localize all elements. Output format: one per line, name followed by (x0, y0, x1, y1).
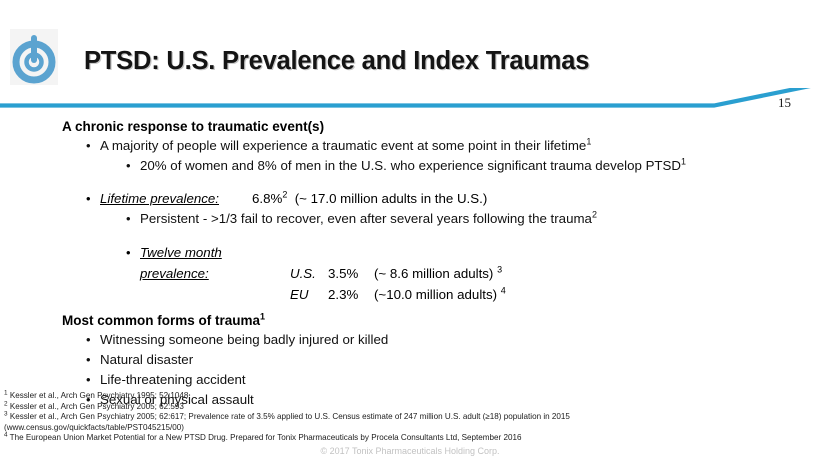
section-heading-trauma-forms: Most common forms of trauma1 (62, 312, 820, 330)
slide-header: PTSD: U.S. Prevalence and Index Traumas … (0, 0, 820, 120)
prevalence-value: 3.5% (328, 263, 374, 284)
footnote-marker: 2 (4, 400, 8, 407)
footnote-text: Kessler et al., Arch Gen Psychiatry 2005… (10, 402, 184, 411)
footnote-ref: 2 (592, 210, 597, 220)
twelve-month-prevalence-row: • Twelve month prevalence:U.S.3.5%(~ 8.6… (140, 242, 820, 284)
bullet-icon: • (86, 370, 91, 390)
footnote-text: The European Union Market Potential for … (10, 433, 522, 442)
slide-body: A chronic response to traumatic event(s)… (0, 118, 820, 410)
header-accent-line (0, 88, 820, 120)
list-item: • Life-threatening accident (100, 370, 820, 390)
bullet-icon: • (126, 242, 131, 263)
section-heading-chronic-response: A chronic response to traumatic event(s) (62, 118, 820, 136)
list-item-label: 20% of women and 8% of men in the U.S. w… (140, 158, 681, 173)
prevalence-value: 2.3% (328, 284, 374, 305)
list-item-label: Witnessing someone being badly injured o… (100, 332, 388, 347)
footnote-text: Kessler et al., Arch Gen Psychiatry 1995… (10, 391, 189, 400)
footnote-ref: 1 (586, 137, 591, 147)
footnote-ref: 4 (501, 286, 506, 296)
bullet-icon: • (86, 350, 91, 370)
footnote-ref: 1 (260, 312, 265, 322)
footnote-item: 4 The European Union Market Potential fo… (4, 433, 820, 444)
twelve-month-prevalence-label: Twelve month prevalence: (140, 242, 290, 284)
bullet-icon: • (126, 209, 131, 229)
list-item-label: Persistent - >1/3 fail to recover, even … (140, 211, 592, 226)
bullet-icon: • (86, 189, 91, 209)
lifetime-prevalence-value: 6.8% (252, 189, 282, 209)
tonix-power-logo-icon (10, 29, 58, 85)
lifetime-prevalence-detail: (~ 17.0 million adults in the U.S.) (295, 191, 488, 206)
footnote-marker: 4 (4, 432, 8, 439)
footnote-text: Kessler et al., Arch Gen Psychiatry 2005… (10, 412, 570, 421)
copyright-notice: © 2017 Tonix Pharmaceuticals Holding Cor… (0, 446, 820, 456)
spacer (0, 305, 820, 312)
list-item: • 20% of women and 8% of men in the U.S.… (140, 156, 820, 176)
footnote-marker: 3 (4, 411, 8, 418)
bullet-icon: • (86, 330, 91, 350)
spacer (0, 176, 820, 189)
footnote-text: (www.census.gov/quickfacts/table/PST0452… (4, 423, 184, 432)
list-item: • A majority of people will experience a… (100, 136, 820, 156)
lifetime-prevalence-row: • Lifetime prevalence:6.8%2 (~ 17.0 mill… (100, 189, 820, 209)
footnotes: 1 Kessler et al., Arch Gen Psychiatry 19… (4, 391, 820, 444)
page-title: PTSD: U.S. Prevalence and Index Traumas (84, 47, 589, 76)
page-number: 15 (778, 95, 791, 111)
logo-svg (10, 29, 58, 85)
spacer (0, 229, 820, 242)
footnote-ref: 2 (282, 190, 287, 200)
footnote-marker: 1 (4, 389, 8, 396)
section-heading-text: Most common forms of trauma (62, 313, 260, 328)
list-item: • Persistent - >1/3 fail to recover, eve… (140, 209, 820, 229)
bullet-icon: • (86, 136, 91, 156)
footnote-ref: 3 (497, 265, 502, 275)
list-item-label: A majority of people will experience a t… (100, 138, 586, 153)
bullet-icon: • (126, 156, 131, 176)
footnote-item: 3 Kessler et al., Arch Gen Psychiatry 20… (4, 412, 820, 423)
region-label: EU (290, 284, 328, 305)
footnote-item: (www.census.gov/quickfacts/table/PST0452… (4, 423, 820, 434)
footnote-item: 1 Kessler et al., Arch Gen Psychiatry 19… (4, 391, 820, 402)
list-item: • Natural disaster (100, 350, 820, 370)
list-item-label: Natural disaster (100, 352, 193, 367)
prevalence-detail: (~ 8.6 million adults) (374, 263, 493, 284)
twelve-month-prevalence-row-eu: EU2.3%(~10.0 million adults) 4 (140, 284, 820, 305)
lifetime-prevalence-label: Lifetime prevalence: (100, 189, 252, 209)
list-item-label: Life-threatening accident (100, 372, 246, 387)
footnote-item: 2 Kessler et al., Arch Gen Psychiatry 20… (4, 402, 820, 413)
footnote-ref: 1 (681, 157, 686, 167)
list-item: • Witnessing someone being badly injured… (100, 330, 820, 350)
region-label: U.S. (290, 263, 328, 284)
prevalence-detail: (~10.0 million adults) (374, 284, 497, 305)
